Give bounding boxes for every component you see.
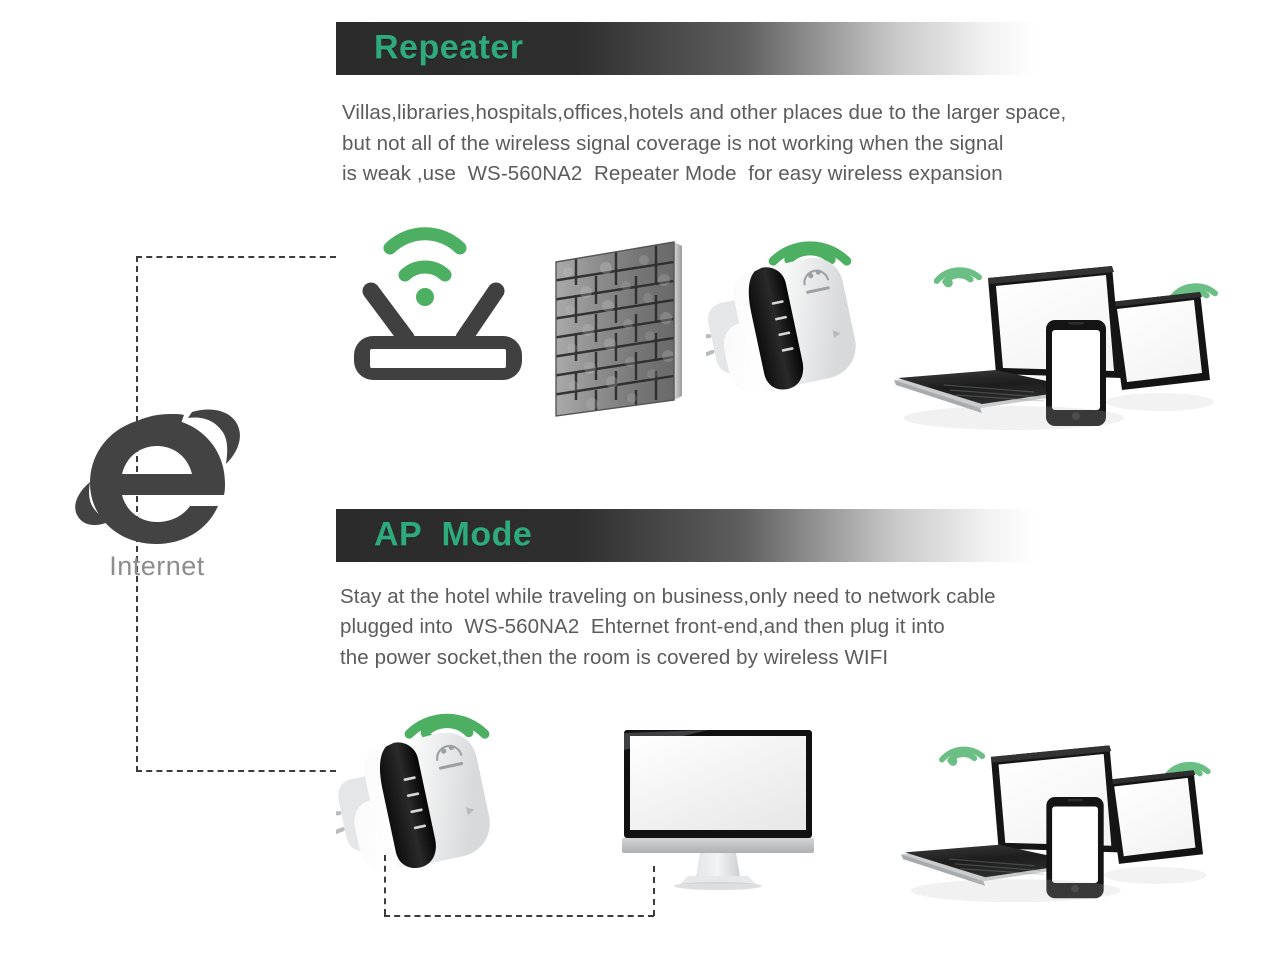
internet-bracket-bottom bbox=[136, 770, 336, 772]
section-header-repeater: Repeater bbox=[336, 22, 1036, 75]
ethernet-cable-bottom bbox=[384, 915, 654, 917]
repeater-paragraph-line-1: Villas,libraries,hospitals,offices,hotel… bbox=[342, 98, 1066, 128]
wall-edge bbox=[674, 242, 682, 400]
repeater-paragraph-line-2: but not all of the wireless signal cover… bbox=[342, 129, 1004, 159]
router-led-panel bbox=[370, 349, 506, 368]
client-devices-repeater bbox=[884, 252, 1224, 437]
client-devices-ap bbox=[884, 732, 1224, 909]
repeater-paragraph-line-3: is weak ,use WS-560NA2 Repeater Mode for… bbox=[342, 159, 1003, 189]
device-wifi-arc-left bbox=[937, 258, 979, 300]
repeater-shell-ap bbox=[336, 727, 497, 885]
ethernet-cable-left-vertical bbox=[384, 855, 386, 915]
infographic-canvas: Internet Repeater Villas,libraries,hospi… bbox=[0, 0, 1280, 960]
desktop-monitor bbox=[604, 726, 854, 896]
brick-wall bbox=[548, 240, 708, 425]
tablet-device bbox=[1110, 292, 1210, 390]
device-wifi-arc-left-ap bbox=[942, 738, 982, 778]
ap-paragraph-line-3: the power socket,then the room is covere… bbox=[340, 643, 888, 673]
ap-paragraph-line-2: plugged into WS-560NA2 Ehternet front-en… bbox=[340, 612, 945, 642]
monitor-chin bbox=[622, 838, 814, 853]
repeater-shell bbox=[706, 252, 862, 405]
internet-label: Internet bbox=[72, 551, 242, 582]
monitor-screen bbox=[630, 736, 806, 830]
monitor-neck bbox=[696, 853, 740, 876]
router-wifi-arcs bbox=[390, 234, 460, 275]
wifi-repeater-device-repeater bbox=[706, 226, 886, 411]
internet-explorer-e-logo bbox=[72, 398, 242, 550]
wireless-router bbox=[344, 218, 534, 393]
section-title-repeater: Repeater bbox=[374, 28, 524, 67]
wifi-repeater-device-ap bbox=[336, 700, 521, 890]
internet-node: Internet bbox=[72, 398, 242, 582]
section-header-ap-mode: AP Mode bbox=[336, 509, 1036, 562]
internet-bracket-top bbox=[136, 256, 336, 258]
tablet-device-ap bbox=[1108, 770, 1204, 864]
ap-paragraph-line-1: Stay at the hotel while traveling on bus… bbox=[340, 582, 996, 612]
router-wifi-dot bbox=[416, 288, 434, 306]
section-title-ap-mode: AP Mode bbox=[374, 515, 532, 554]
